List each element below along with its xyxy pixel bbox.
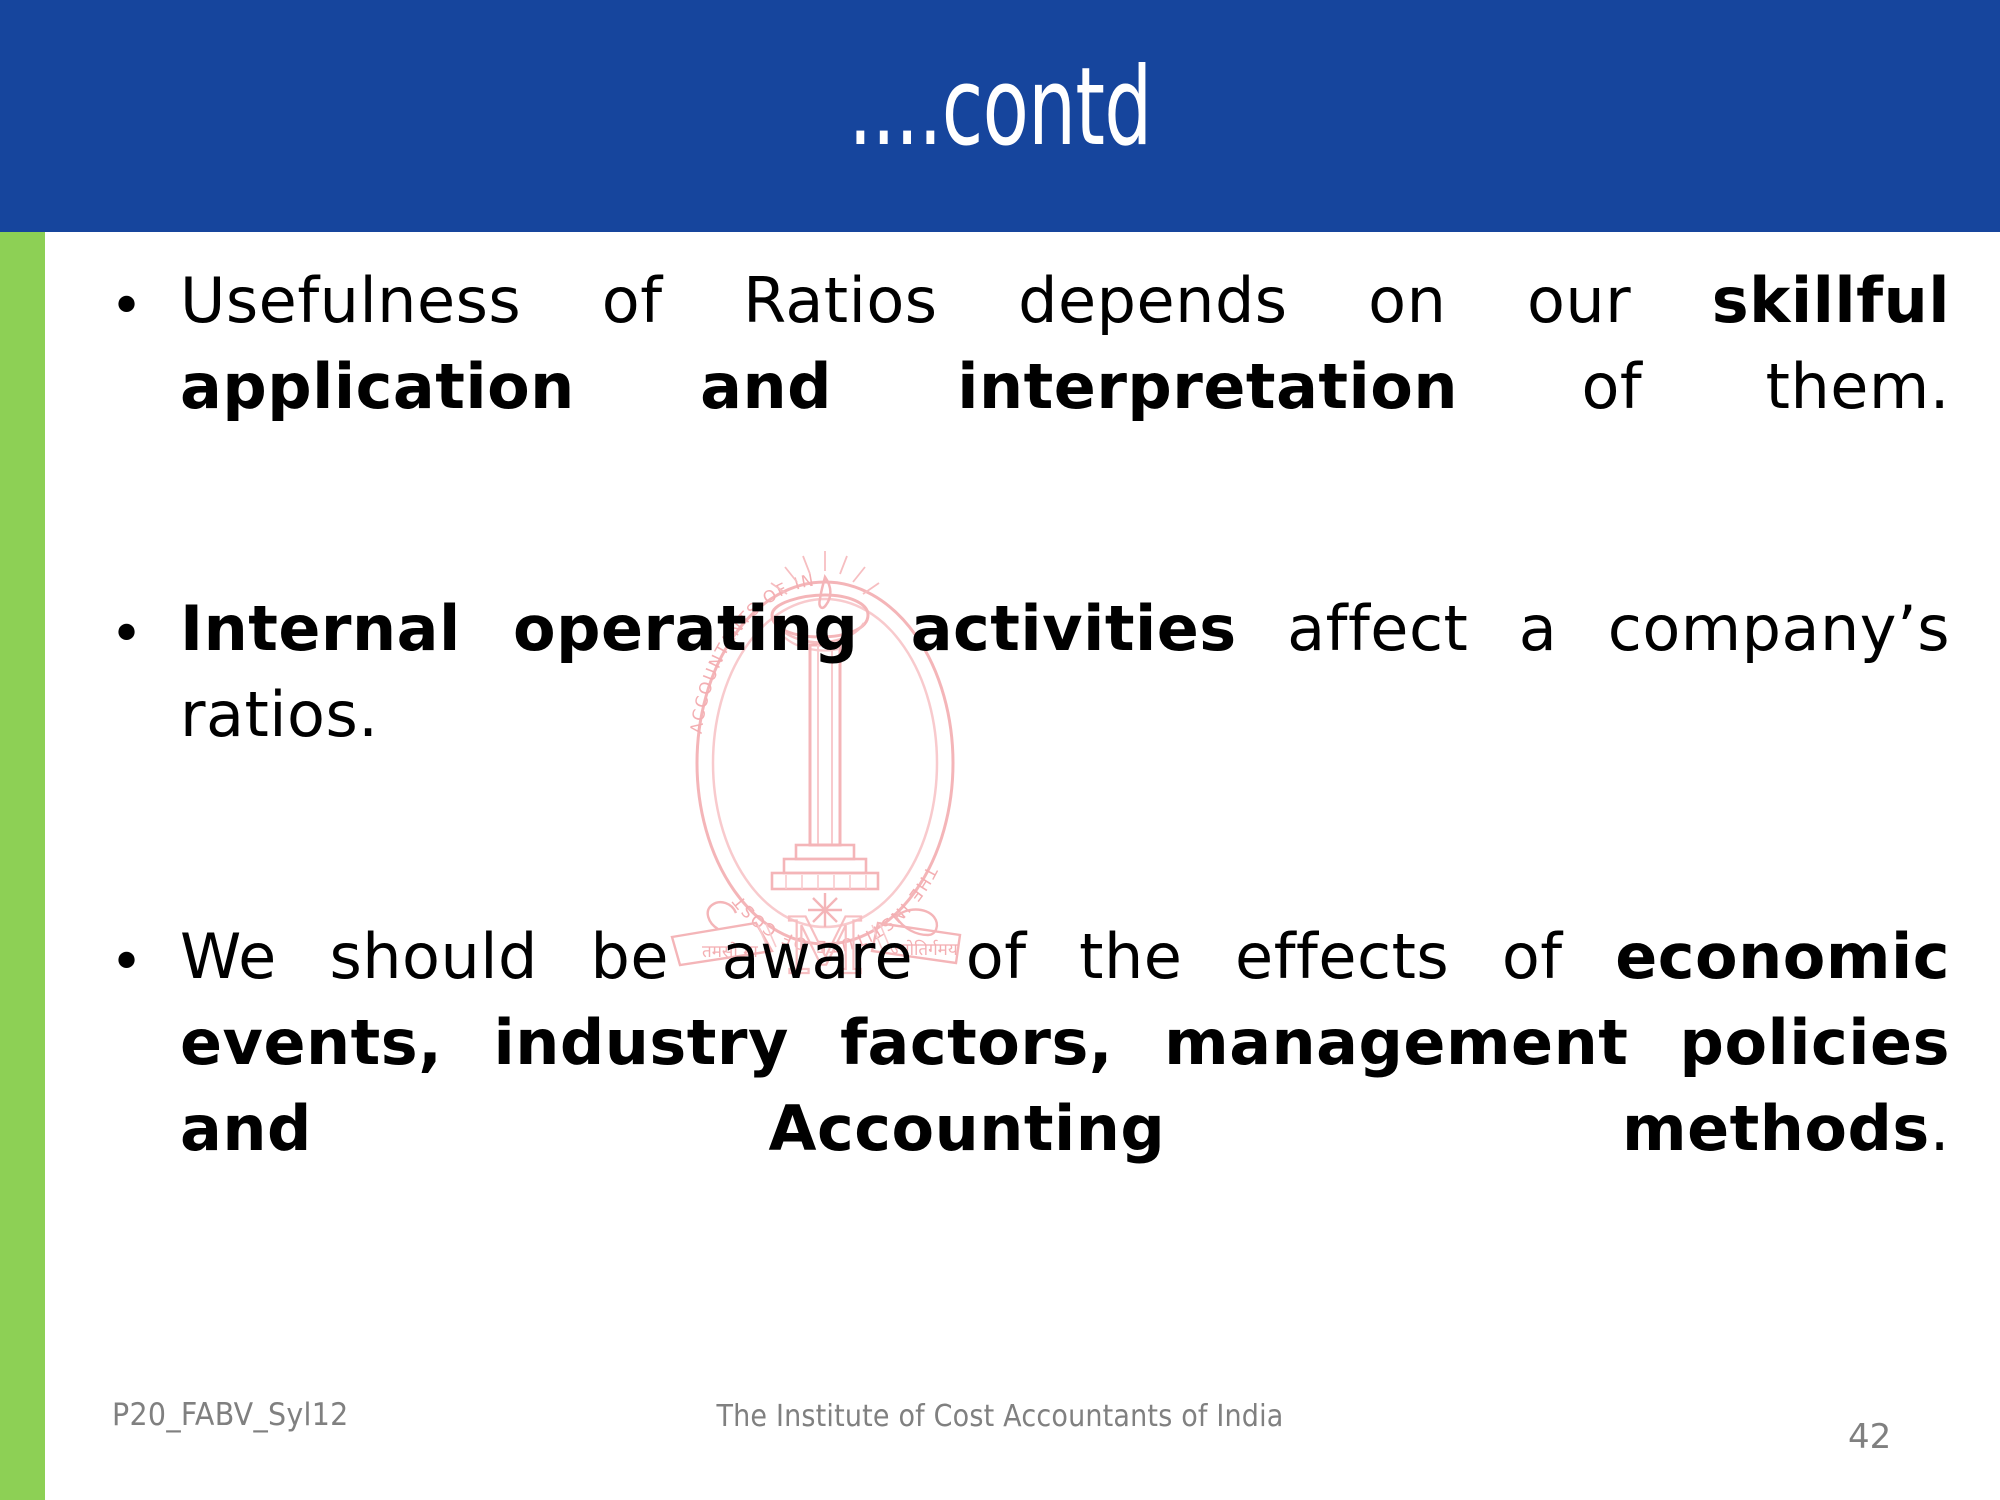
bullet-segment: of them. <box>1458 350 1950 423</box>
bullet-segment: . <box>1930 1092 1950 1165</box>
bullet-text: Internal operating activities affect a c… <box>180 586 1950 844</box>
bullet-marker: • <box>110 914 180 1006</box>
bullet-segment: We should be aware of the effects of <box>180 920 1615 993</box>
slide-footer: P20_FABV_Syl12 The Institute of Cost Acc… <box>0 1395 2000 1500</box>
bullet-item: • Internal operating activities affect a… <box>110 586 1950 844</box>
footer-page-number: 42 <box>1848 1417 1891 1457</box>
bullet-text: Usefulness of Ratios depends on our skil… <box>180 258 1950 516</box>
left-accent-bar <box>0 232 45 1500</box>
bullet-segment-bold: Internal operating activities <box>180 592 1237 665</box>
slide-canvas: ....contd ACCOUNTANTS OF IN THE INSTITUT… <box>0 0 2000 1500</box>
slide-body: • Usefulness of Ratios depends on our sk… <box>110 258 1950 1338</box>
bullet-item: • Usefulness of Ratios depends on our sk… <box>110 258 1950 516</box>
bullet-marker: • <box>110 258 180 350</box>
bullet-segment: Usefulness of Ratios depends on our <box>180 264 1712 337</box>
bullet-item: • We should be aware of the effects of e… <box>110 914 1950 1258</box>
bullet-text: We should be aware of the effects of eco… <box>180 914 1950 1258</box>
footer-organization: The Institute of Cost Accountants of Ind… <box>100 1397 1900 1437</box>
bullet-marker: • <box>110 586 180 678</box>
slide-header-band: ....contd <box>0 0 2000 232</box>
slide-title: ....contd <box>300 48 1700 168</box>
